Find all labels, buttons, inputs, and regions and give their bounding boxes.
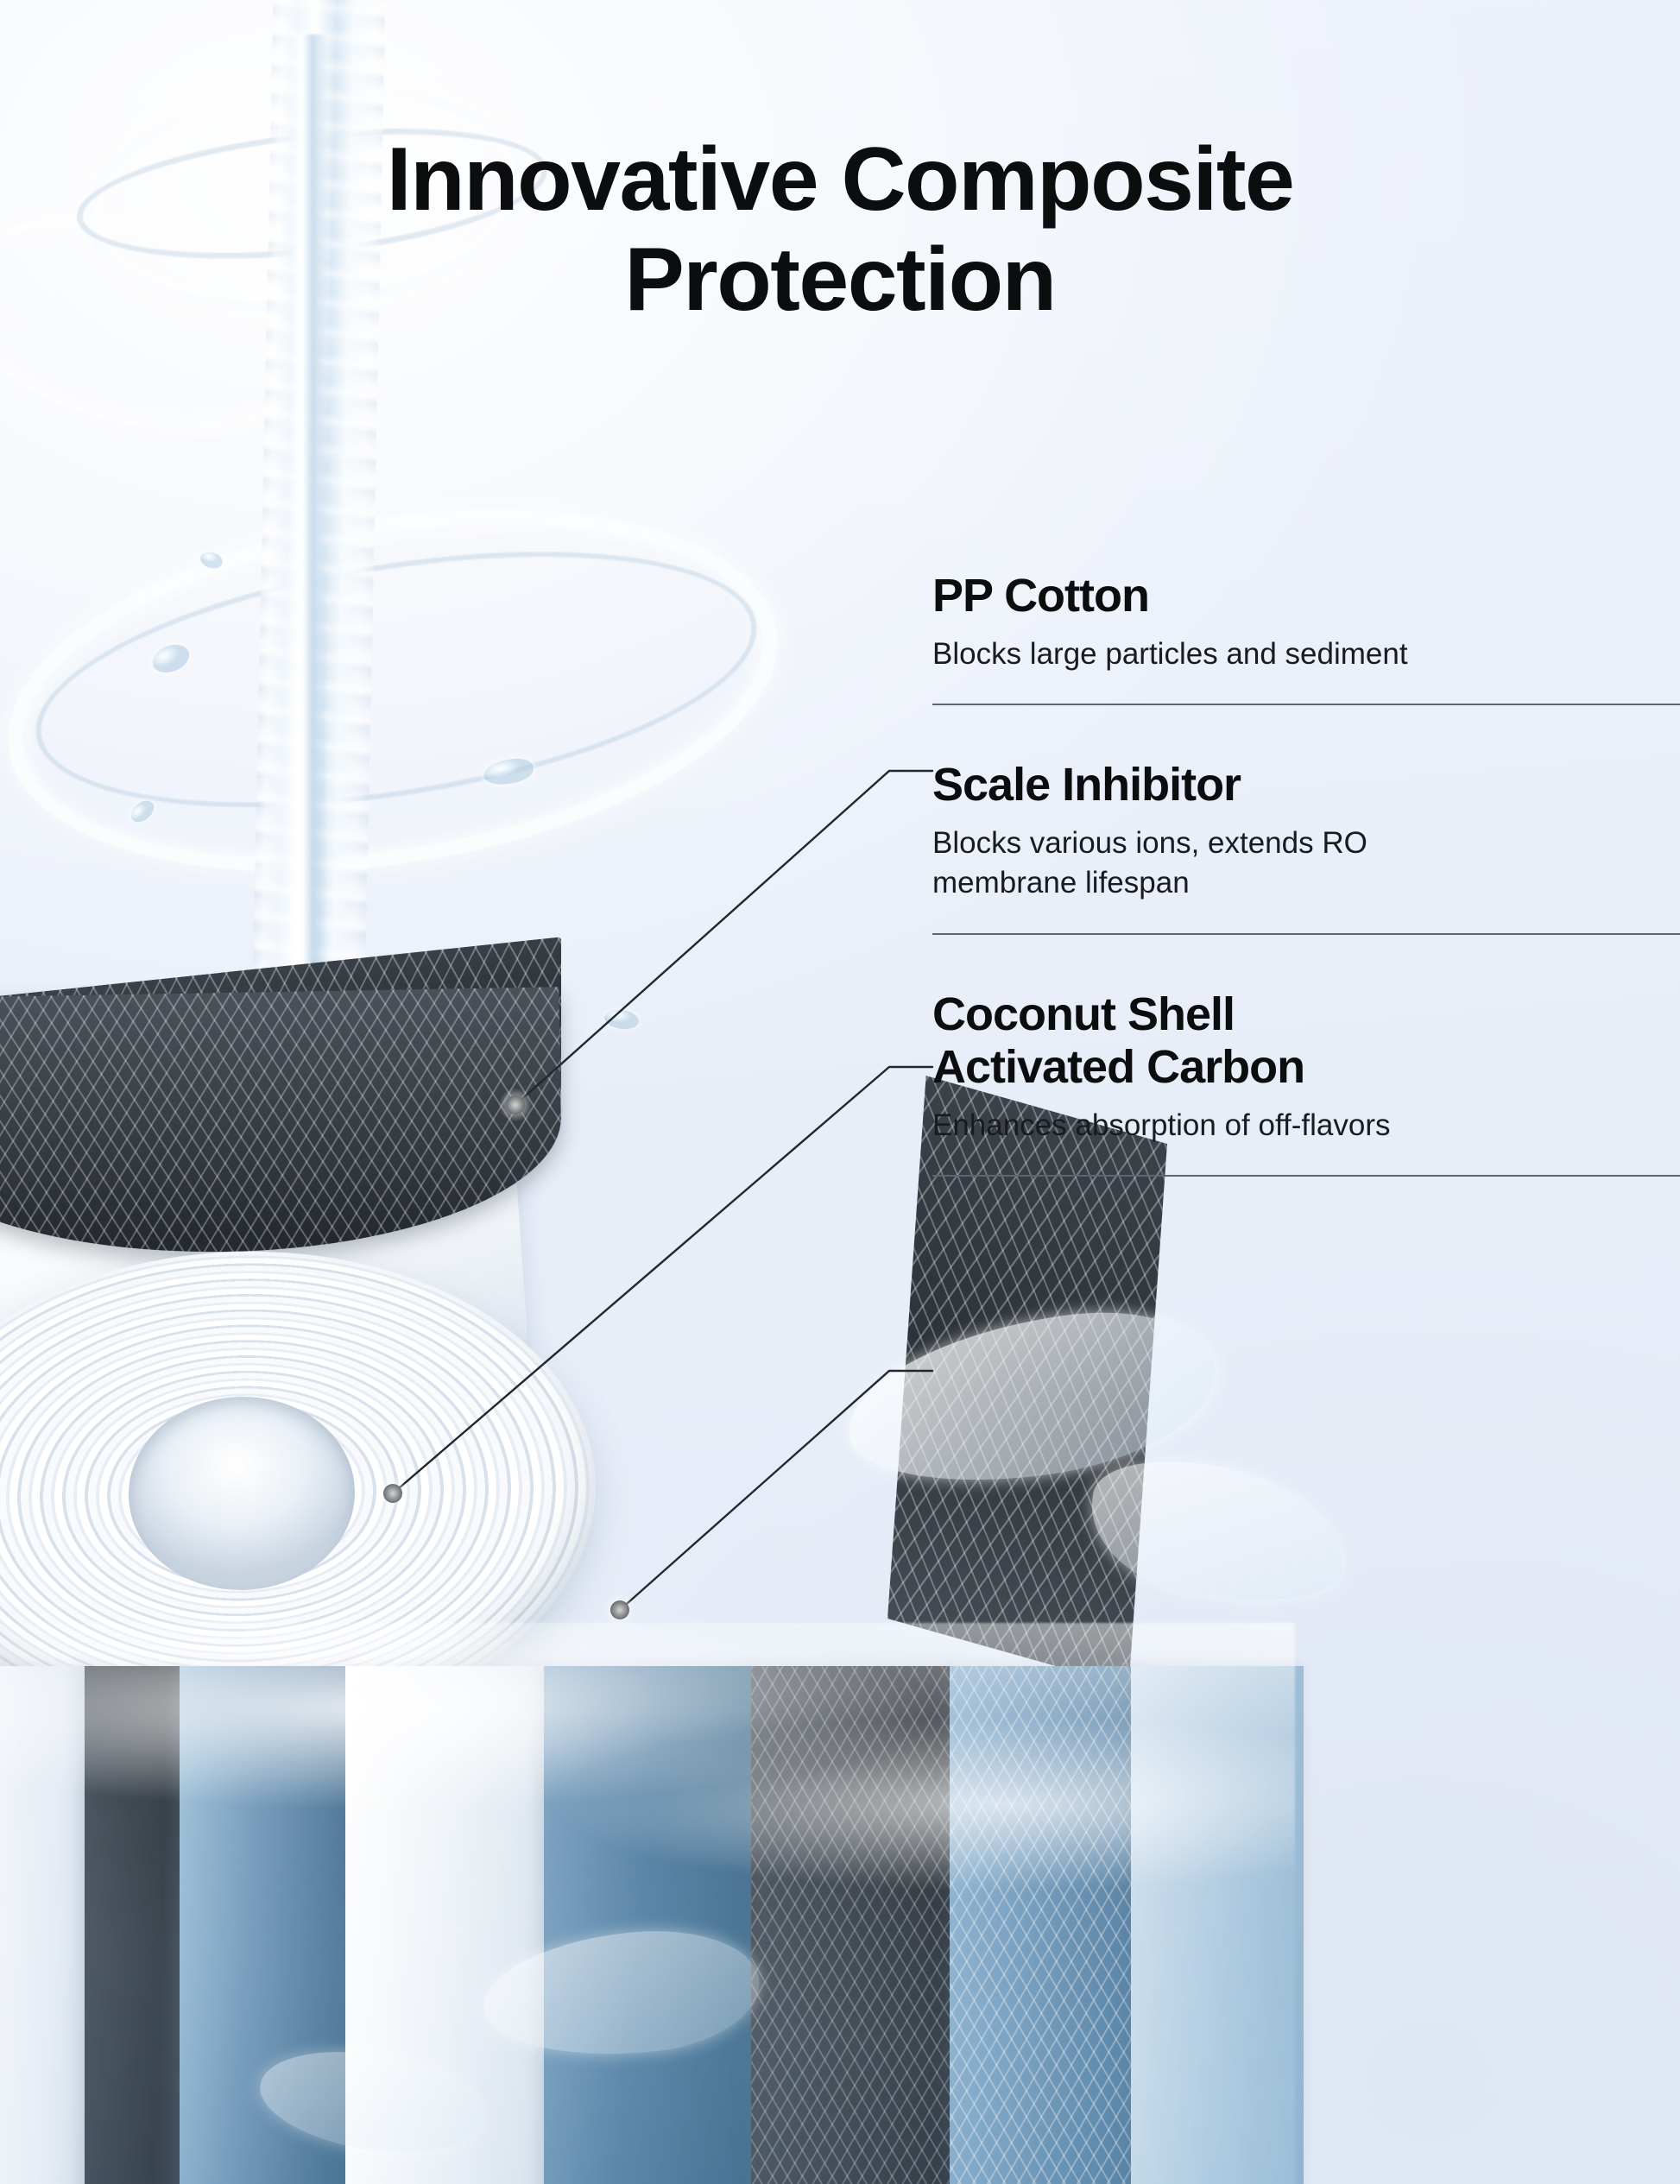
activated-carbon-mesh-layer [0, 987, 564, 1258]
callout-title: Coconut Shell Activated Carbon [932, 988, 1680, 1094]
filter-layer [85, 1666, 188, 2184]
callout-pp-cotton: PP Cotton Blocks large particles and sed… [932, 570, 1680, 705]
water-droplet [482, 754, 536, 788]
anchor-dot-scale-inhibitor [383, 1484, 402, 1503]
water-droplet [148, 640, 193, 678]
water-droplet [199, 550, 224, 571]
filter-layer [0, 1666, 95, 2184]
water-overlay [0, 1623, 1295, 2184]
scale-inhibitor-grid-layer [0, 1059, 514, 1284]
spiral-wound-core [0, 1240, 604, 1747]
callout-title: PP Cotton [932, 570, 1680, 622]
anchor-dot-pp-cotton [506, 1095, 525, 1114]
leader-line-scale-inhibitor [393, 1067, 932, 1493]
filter-layer [950, 1666, 1148, 2184]
callout-scale-inhibitor: Scale Inhibitor Blocks various ions, ext… [932, 759, 1680, 934]
filter-layer-stack [0, 1666, 1295, 2184]
spacer [932, 705, 1680, 759]
water-splash [837, 1296, 1227, 1501]
callout-description: Enhances absorption of off-flavors [932, 1106, 1680, 1146]
leader-line-pp-cotton [515, 771, 932, 1105]
callout-activated-carbon: Coconut Shell Activated Carbon Enhances … [932, 988, 1680, 1177]
water-splash-ring [0, 459, 804, 922]
filter-layer [345, 1666, 553, 2184]
pp-cotton-membrane-sheet [0, 1898, 588, 2184]
water-splash [253, 2037, 489, 2166]
infographic-poster: Innovative Composite Protection PP Cotto… [0, 0, 1680, 2184]
water-splash [1077, 1442, 1358, 1622]
leader-line-activated-carbon [620, 1371, 932, 1610]
water-droplet [603, 1007, 641, 1031]
callout-title: Scale Inhibitor [932, 759, 1680, 811]
callout-divider [932, 1175, 1680, 1177]
anchor-halo [492, 1082, 539, 1128]
callout-divider [932, 933, 1680, 935]
page-title-line-2: Protection [0, 230, 1680, 330]
anchor-halo [369, 1470, 416, 1517]
filter-layer [544, 1666, 760, 2184]
water-droplet [405, 1007, 467, 1035]
callout-description: Blocks large particles and sediment [932, 634, 1680, 674]
page-title-line-1: Innovative Composite [0, 129, 1680, 230]
spacer [932, 935, 1680, 988]
filter-layer [1131, 1666, 1304, 2184]
anchor-dot-activated-carbon [610, 1600, 629, 1619]
activated-carbon-mesh-layer [0, 937, 561, 1152]
water-droplet [127, 797, 158, 827]
pp-cotton-membrane-sheet [0, 1325, 417, 1764]
page-title: Innovative Composite Protection [0, 129, 1680, 331]
filter-layer [180, 1666, 361, 2184]
water-splash [478, 1920, 766, 2069]
filter-layer [751, 1666, 958, 2184]
anchor-halo [597, 1587, 643, 1633]
pp-cotton-membrane-sheet [0, 1182, 534, 1494]
callout-list: PP Cotton Blocks large particles and sed… [932, 570, 1680, 1177]
callout-divider [932, 704, 1680, 705]
callout-description: Blocks various ions, extends RO membrane… [932, 824, 1680, 903]
